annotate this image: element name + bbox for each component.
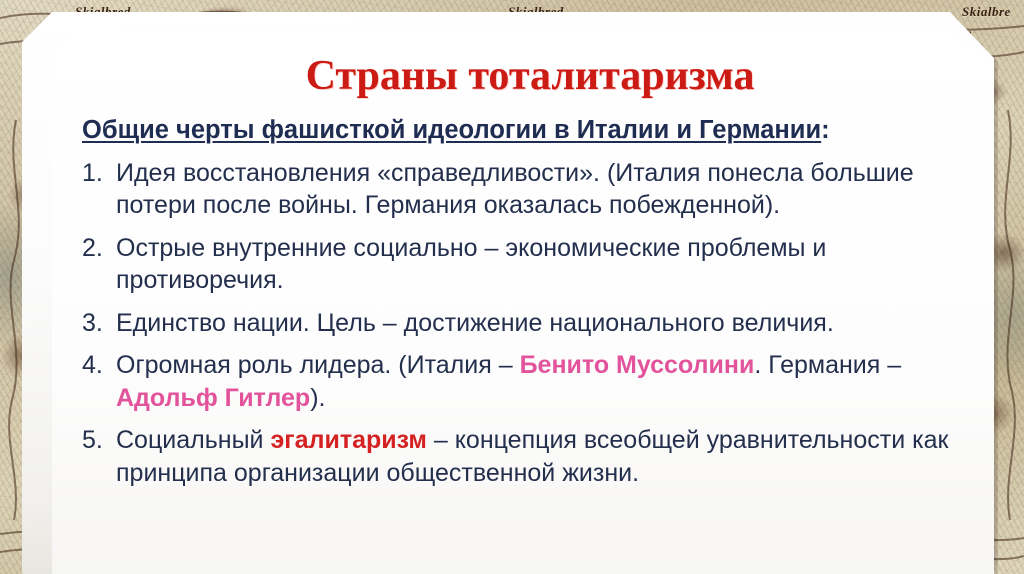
list-item: 5. Социальный эгалитаризм – концепция вс… [82, 424, 994, 489]
slide-canvas: Skialbred. Klaka Skialbred. Skialbre Kla… [0, 0, 1024, 574]
list-item-number: 4. [82, 349, 103, 382]
subtitle-colon: : [821, 116, 830, 144]
list-item: 3.Единство нации. Цель – достижение наци… [82, 307, 994, 340]
content-panel-inner: Страны тоталитаризма Общие черты фашистк… [52, 32, 1008, 574]
highlighted-name-mussolini: Бенито Муссолини [520, 351, 755, 379]
list-item-text: ). [310, 384, 325, 412]
map-place-label: Skialbre [962, 4, 1011, 20]
list-item-number: 5. [82, 424, 103, 457]
list-item-number: 2. [82, 232, 103, 265]
list-item-text: Единство нации. Цель – достижение национ… [116, 309, 834, 337]
list-item: 1.Идея восстановления «справедливости». … [82, 157, 994, 222]
points-list: 1.Идея восстановления «справедливости». … [52, 157, 1008, 490]
slide-title: Страны тоталитаризма [52, 54, 1008, 98]
list-item-text: . Германия – [754, 351, 901, 379]
subtitle-underlined-text: Общие черты фашисткой идеологии в Италии… [82, 116, 821, 144]
list-item-number: 1. [82, 157, 103, 190]
highlighted-name-hitler: Адольф Гитлер [116, 384, 310, 412]
list-item: 4.Огромная роль лидера. (Италия – Бенито… [82, 349, 994, 414]
list-item-text: Социальный [116, 426, 270, 454]
content-panel: Страны тоталитаризма Общие черты фашистк… [22, 12, 994, 574]
list-item-text: Острые внутренние социально – экономичес… [116, 234, 826, 295]
slide-subtitle: Общие черты фашисткой идеологии в Италии… [52, 114, 1008, 147]
highlighted-term-egalitarianism: эгалитаризм [270, 426, 426, 454]
list-item-text: Идея восстановления «справедливости». (И… [116, 159, 914, 220]
list-item: 2.Острые внутренние социально – экономич… [82, 232, 994, 297]
list-item-number: 3. [82, 307, 103, 340]
list-item-text: Огромная роль лидера. (Италия – [116, 351, 520, 379]
